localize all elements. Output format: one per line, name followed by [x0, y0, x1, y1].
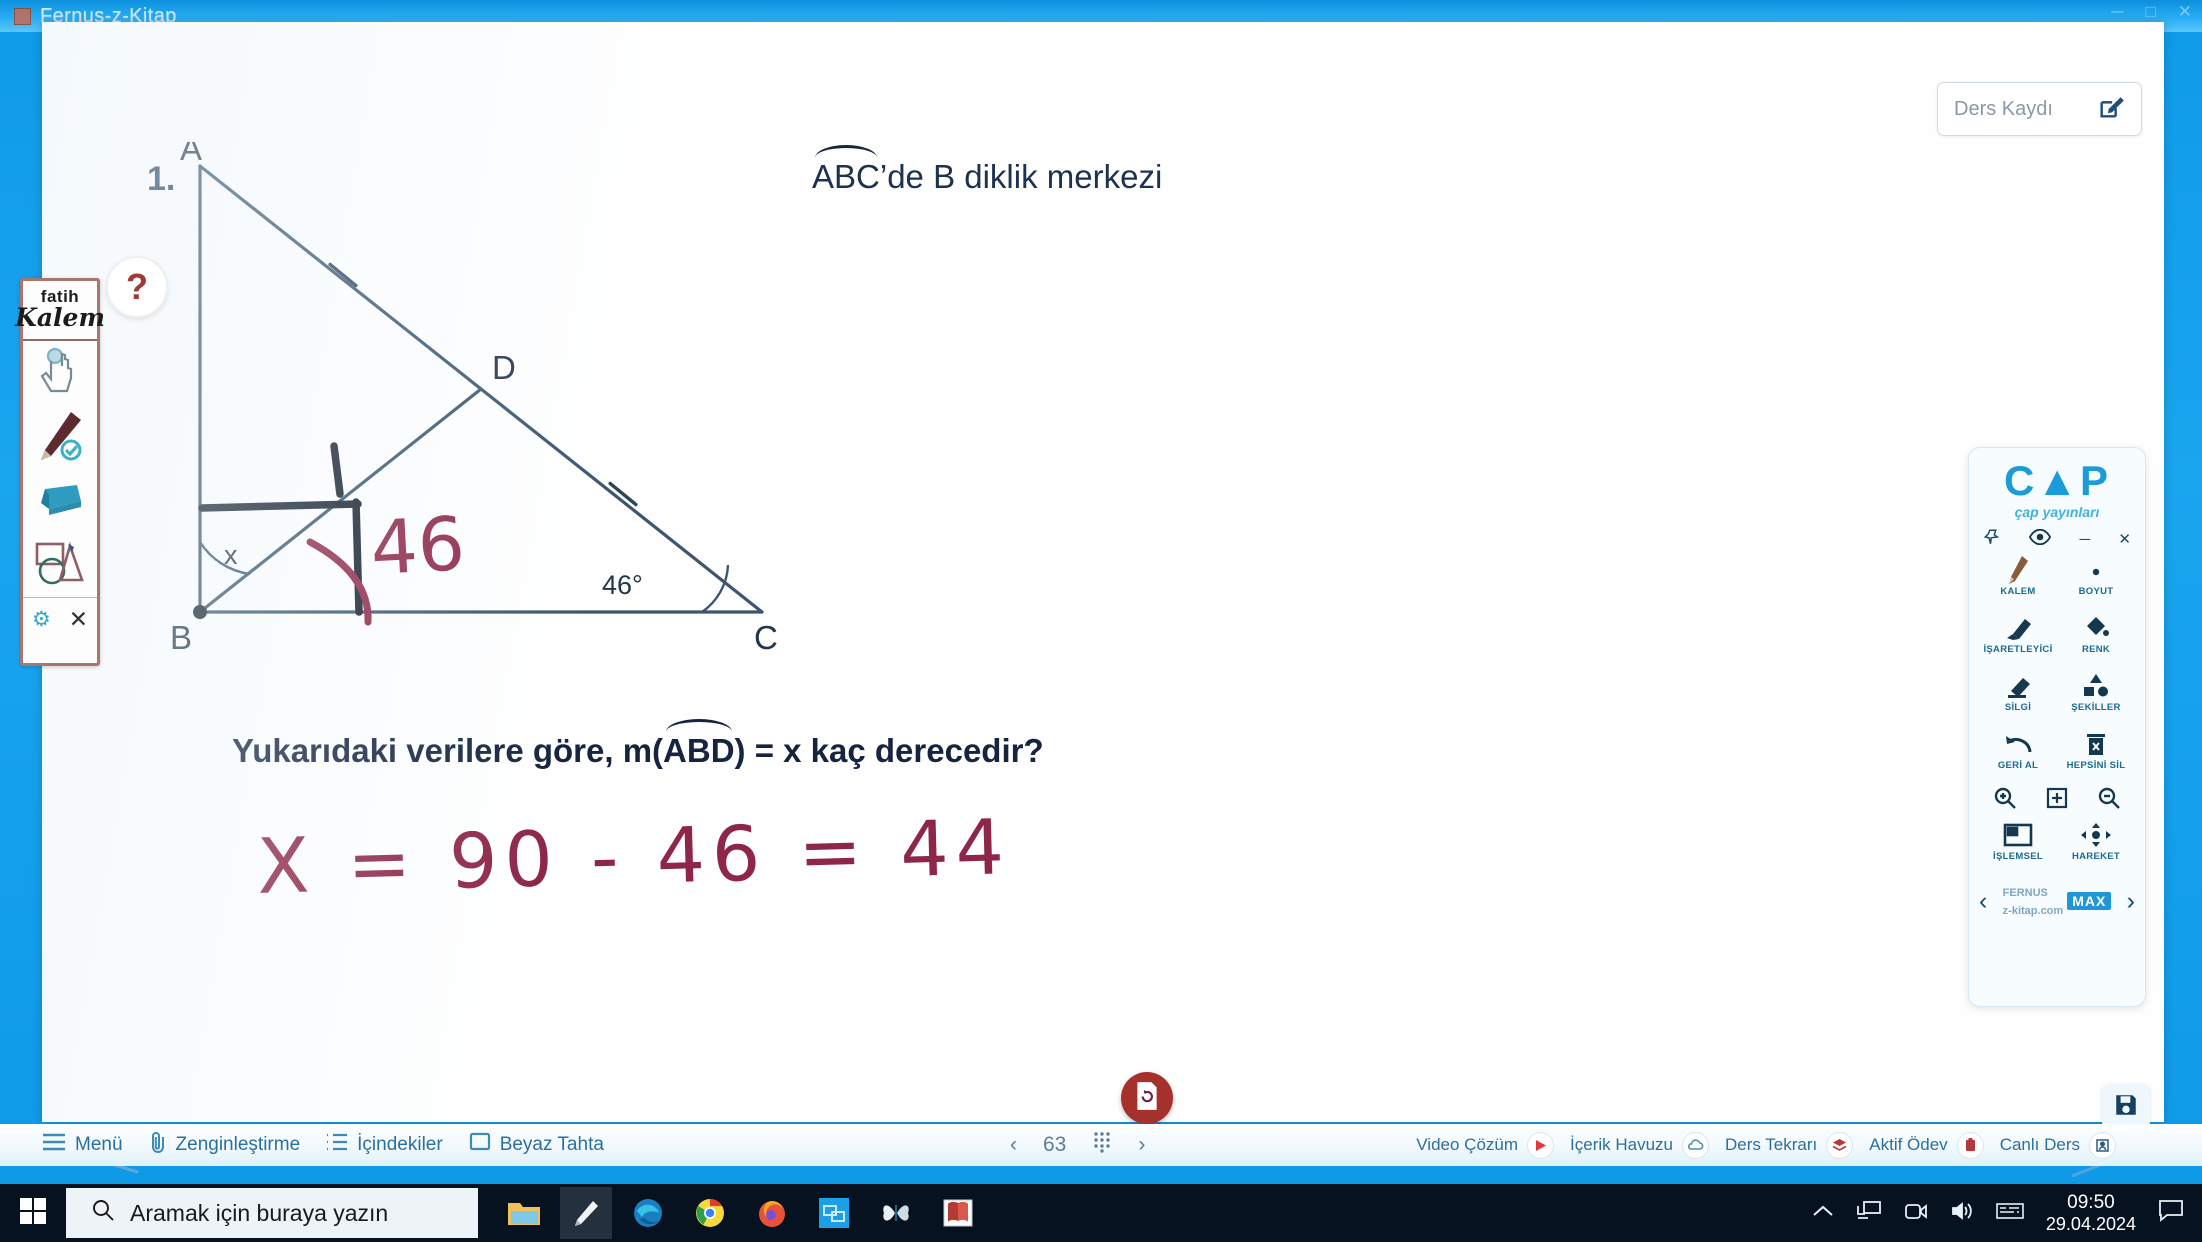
- angle-notation-abd: ABD: [663, 732, 735, 770]
- edge-browser-icon[interactable]: [622, 1187, 674, 1239]
- canli-ders-label: Canlı Ders: [2000, 1135, 2080, 1155]
- tray-time: 09:50: [2067, 1192, 2115, 1213]
- volume-icon[interactable]: [1950, 1201, 1974, 1226]
- paint-bucket-icon: [2082, 612, 2110, 644]
- highlighter-icon: [2003, 612, 2033, 644]
- trash-icon: [2084, 728, 2108, 760]
- reset-page-button[interactable]: [1121, 1072, 1173, 1124]
- app-bottom-bar: Menü Zenginleştirme İçindekiler: [0, 1124, 2202, 1166]
- play-icon[interactable]: [1527, 1132, 1554, 1159]
- cap-subtitle: çap yayınları: [1979, 504, 2135, 520]
- fatih-kalem-brand: fatih Kalem: [23, 281, 97, 341]
- cloud-icon[interactable]: [1682, 1132, 1709, 1159]
- fatih-brand-line2: Kalem: [15, 305, 105, 331]
- ders-tekrari-label: Ders Tekrarı: [1725, 1135, 1817, 1155]
- ders-kaydi-button[interactable]: Ders Kaydı: [1937, 82, 2142, 136]
- pen-tool[interactable]: [23, 405, 97, 469]
- question-footer-pre: Yukarıdaki verilere göre, m(: [232, 732, 663, 769]
- close-icon[interactable]: ✕: [2118, 530, 2131, 548]
- cap-tool-kalem[interactable]: KALEM: [1979, 554, 2057, 610]
- book-page: Ders Kaydı 1. ABC’de B diklik merkezi: [42, 22, 2164, 1122]
- layers-icon[interactable]: [1826, 1132, 1853, 1159]
- cap-tool-geri-al[interactable]: GERİ AL: [1979, 728, 2057, 784]
- svg-text:46°: 46°: [602, 570, 643, 600]
- save-disk-icon: [2113, 1092, 2139, 1123]
- undo-arrow-icon: [2003, 728, 2033, 760]
- icindekiler-button[interactable]: İçindekiler: [326, 1133, 443, 1157]
- icerik-havuzu-label: İçerik Havuzu: [1570, 1135, 1673, 1155]
- app-icon: [14, 8, 31, 25]
- cap-tool-label: BOYUT: [2079, 586, 2114, 597]
- page-refresh-icon: [1134, 1081, 1160, 1116]
- butterfly-app-icon[interactable]: [870, 1187, 922, 1239]
- pencil-icon: [2006, 554, 2030, 586]
- screen-window-icon: [2003, 819, 2033, 851]
- cap-tool-label: SİLGİ: [2005, 702, 2031, 713]
- eye-icon[interactable]: [2029, 529, 2051, 549]
- cap-tool-grid: KALEM BOYUT İŞARETLEYİCİ: [1979, 554, 2135, 784]
- cap-tool-label: İŞLEMSEL: [1993, 851, 2043, 862]
- pen-icon: [35, 408, 85, 467]
- cap-window-controls[interactable]: ─ ✕: [1983, 528, 2131, 550]
- cap-tool-hareket[interactable]: HAREKET: [2057, 819, 2135, 875]
- chevron-left-icon[interactable]: ‹: [1979, 887, 1987, 916]
- cap-panel-footer: ‹ FERNUS z-kitap.com MAX ›: [1979, 883, 2135, 919]
- video-cozum-label: Video Çözüm: [1416, 1135, 1518, 1155]
- cap-tool-silgi[interactable]: SİLGİ: [1979, 670, 2057, 726]
- tray-clock[interactable]: 09:50 29.04.2024: [2046, 1192, 2136, 1233]
- question-footer-post: ) = x kaç derecedir?: [735, 732, 1044, 769]
- fatih-kalem-palette: fatih Kalem: [20, 278, 100, 666]
- taskbar-search-input[interactable]: Aramak için buraya yazın: [66, 1188, 478, 1238]
- menu-button[interactable]: Menü: [42, 1133, 123, 1157]
- tray-date: 29.04.2024: [2046, 1214, 2136, 1234]
- cap-tool-panel: C▲P çap yayınları ─: [1968, 447, 2146, 1007]
- keyboard-icon[interactable]: [1996, 1201, 2024, 1226]
- network-icon[interactable]: [1856, 1200, 1882, 1227]
- list-icon: [326, 1133, 348, 1157]
- cap-tool-boyut[interactable]: BOYUT: [2057, 554, 2135, 610]
- question-footer: Yukarıdaki verilere göre, m(ABD) = x kaç…: [232, 732, 1044, 770]
- ders-tekrari-button[interactable]: Ders Tekrarı: [1725, 1132, 1853, 1159]
- cap-tool-islemsel[interactable]: İŞLEMSEL: [1979, 819, 2057, 875]
- firefox-browser-icon[interactable]: [746, 1187, 798, 1239]
- fernus-brand-line2: z-kitap.com: [2003, 905, 2064, 917]
- icindekiler-label: İçindekiler: [357, 1134, 443, 1156]
- paperclip-icon: [149, 1131, 167, 1159]
- cap-tool-label: İŞARETLEYİCİ: [1983, 644, 2052, 655]
- shapes-icon: [2081, 670, 2111, 702]
- beyaz-tahta-button[interactable]: Beyaz Tahta: [469, 1132, 604, 1158]
- ders-kaydi-label: Ders Kaydı: [1954, 98, 2053, 121]
- pen-whiteboard-icon[interactable]: [560, 1187, 612, 1239]
- window-controls[interactable]: ─ □ ✕: [2111, 2, 2192, 22]
- cap-tool-label: KALEM: [2000, 586, 2035, 597]
- cap-tool-isaretleyici[interactable]: İŞARETLEYİCİ: [1979, 612, 2057, 668]
- svg-text:46: 46: [368, 501, 467, 592]
- cap-tool-label: ŞEKİLLER: [2071, 702, 2120, 713]
- cap-tool-sekiller[interactable]: ŞEKİLLER: [2057, 670, 2135, 726]
- cap-tool-label: HAREKET: [2072, 851, 2120, 862]
- chrome-browser-icon[interactable]: [684, 1187, 736, 1239]
- system-tray: 09:50 29.04.2024: [1812, 1184, 2202, 1242]
- aktif-odev-button[interactable]: Aktif Ödev: [1869, 1132, 1983, 1159]
- edit-square-icon[interactable]: [2097, 93, 2125, 126]
- clipboard-icon[interactable]: [1957, 1132, 1984, 1159]
- notification-icon[interactable]: [2158, 1199, 2184, 1228]
- blue-app-icon[interactable]: [808, 1187, 860, 1239]
- prev-page-button[interactable]: ‹: [1010, 1133, 1017, 1157]
- touch-hand-icon: [38, 347, 82, 400]
- eraser-icon: [2003, 670, 2033, 702]
- hamburger-icon: [42, 1133, 66, 1157]
- cap-logo-triangle-icon: ▲: [2036, 457, 2080, 504]
- move-arrows-icon: [2081, 819, 2111, 851]
- fit-frame-icon[interactable]: [2045, 786, 2069, 815]
- grid-dots-icon[interactable]: [1092, 1131, 1112, 1159]
- question-header-rest: ’de B diklik merkezi: [880, 158, 1162, 195]
- maximize-icon[interactable]: □: [2145, 2, 2155, 22]
- zoom-in-icon[interactable]: [1993, 786, 2017, 815]
- gear-icon[interactable]: ⚙: [32, 607, 51, 632]
- close-icon[interactable]: ✕: [69, 606, 88, 633]
- svg-text:D: D: [492, 349, 516, 386]
- fernus-brand: FERNUS z-kitap.com MAX: [2003, 883, 2112, 919]
- pin-icon[interactable]: [1983, 528, 2001, 550]
- app-window: Fernus-z-Kitap ─ □ ✕ Ders Kaydı 1.: [0, 0, 2202, 1184]
- chevron-right-icon[interactable]: ›: [2127, 887, 2135, 916]
- svg-text:A: A: [180, 142, 202, 167]
- zenginlestirme-button[interactable]: Zenginleştirme: [149, 1131, 301, 1159]
- cap-tool-label: GERİ AL: [1998, 760, 2038, 771]
- help-button[interactable]: ?: [108, 258, 166, 316]
- next-page-button[interactable]: ›: [1138, 1133, 1145, 1157]
- shapes-tool[interactable]: [23, 533, 97, 597]
- minimize-icon[interactable]: ─: [2080, 531, 2091, 548]
- fernus-max-badge: MAX: [2067, 892, 2111, 910]
- cap-tool-grid-2: İŞLEMSEL HAREKET: [1979, 819, 2135, 875]
- svg-text:C: C: [754, 619, 778, 656]
- cap-logo: C▲P: [1979, 460, 2135, 502]
- page-navigator: ‹ 63 ›: [1010, 1131, 1145, 1159]
- zenginlestirme-label: Zenginleştirme: [176, 1134, 301, 1156]
- cap-logo-text: C: [2004, 457, 2036, 504]
- cap-tool-label: HEPSİNİ SİL: [2067, 760, 2126, 771]
- cap-tool-renk[interactable]: RENK: [2057, 612, 2135, 668]
- canli-ders-button[interactable]: Canlı Ders: [2000, 1132, 2116, 1159]
- eraser-icon: [33, 481, 87, 522]
- cap-tool-hepsini-sil[interactable]: HEPSİNİ SİL: [2057, 728, 2135, 784]
- zoom-out-icon[interactable]: [2097, 786, 2121, 815]
- book-app-icon[interactable]: [932, 1187, 984, 1239]
- angle-arc-icon: [666, 719, 732, 732]
- chevron-up-icon[interactable]: [1812, 1204, 1834, 1223]
- svg-text:x: x: [224, 540, 238, 570]
- geometry-figure: A B C D x 46°: [162, 142, 862, 667]
- touch-hand-tool[interactable]: [23, 341, 97, 405]
- page-number: 63: [1043, 1133, 1066, 1157]
- beyaz-tahta-label: Beyaz Tahta: [500, 1134, 604, 1156]
- svg-text:B: B: [170, 619, 192, 656]
- windows-taskbar: Aramak için buraya yazın: [0, 1184, 2202, 1242]
- bottom-bar-right: Video Çözüm İçerik Havuzu Ders Tekrarı: [1416, 1132, 2116, 1159]
- screen-root: Fernus-z-Kitap ─ □ ✕ Ders Kaydı 1.: [0, 0, 2202, 1242]
- taskbar-apps: [498, 1187, 984, 1239]
- windows-logo-icon: [20, 1198, 46, 1229]
- start-button[interactable]: [0, 1184, 66, 1242]
- dot-size-icon: [2086, 554, 2106, 586]
- video-cozum-button[interactable]: Video Çözüm: [1416, 1132, 1554, 1159]
- shapes-icon: [34, 540, 86, 591]
- question-header: ABC’de B diklik merkezi: [812, 158, 1162, 196]
- close-icon[interactable]: ✕: [2178, 2, 2192, 22]
- taskbar-search-placeholder: Aramak için buraya yazın: [130, 1200, 388, 1227]
- eraser-tool[interactable]: [23, 469, 97, 533]
- whiteboard-icon: [469, 1132, 491, 1158]
- cap-tool-label: RENK: [2082, 644, 2110, 655]
- icerik-havuzu-button[interactable]: İçerik Havuzu: [1570, 1132, 1709, 1159]
- search-icon: [92, 1199, 114, 1227]
- cap-zoom-row: [1979, 786, 2135, 815]
- fernus-brand-line1: FERNUS: [2003, 887, 2048, 899]
- bottom-bar-left: Menü Zenginleştirme İçindekiler: [42, 1131, 604, 1159]
- person-screen-icon[interactable]: [2089, 1132, 2116, 1159]
- camera-icon[interactable]: [1904, 1201, 1928, 1226]
- minimize-icon[interactable]: ─: [2111, 2, 2123, 22]
- fatih-palette-footer: ⚙ ✕: [23, 597, 97, 641]
- handwritten-answer: X = 90 - 46 = 44: [256, 802, 1012, 911]
- file-explorer-icon[interactable]: [498, 1187, 550, 1239]
- aktif-odev-label: Aktif Ödev: [1869, 1135, 1947, 1155]
- menu-label: Menü: [75, 1134, 123, 1156]
